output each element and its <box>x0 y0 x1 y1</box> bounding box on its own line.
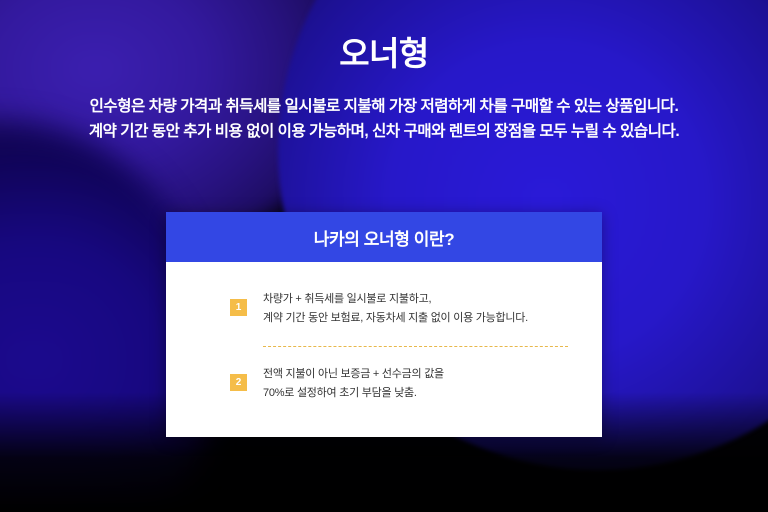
list-item-line-2: 70%로 설정하여 초기 부담을 낮춤. <box>263 384 568 403</box>
list-item-line-1: 차량가 + 취득세를 일시불로 지불하고, <box>263 290 568 309</box>
page-title: 오너형 <box>0 36 768 72</box>
list-item-line-1: 전액 지불이 아닌 보증금 + 선수금의 값을 <box>263 365 568 384</box>
hero-description-line-1: 인수형은 차량 가격과 취득세를 일시불로 지불해 가장 저렴하게 차를 구매할… <box>0 94 768 119</box>
hero-description-line-2: 계약 기간 동안 추가 비용 없이 이용 가능하며, 신차 구매와 렌트의 장점… <box>0 119 768 144</box>
list-item-number-badge: 1 <box>230 299 247 316</box>
list-item: 1 차량가 + 취득세를 일시불로 지불하고, 계약 기간 동안 보험료, 자동… <box>230 290 568 328</box>
list-item-line-2: 계약 기간 동안 보험료, 자동차세 지출 없이 이용 가능합니다. <box>263 309 568 328</box>
list-item-text: 차량가 + 취득세를 일시불로 지불하고, 계약 기간 동안 보험료, 자동차세… <box>263 290 568 328</box>
info-card-header: 나카의 오너형 이란? <box>166 212 602 262</box>
info-card-title: 나카의 오너형 이란? <box>314 225 455 250</box>
promo-slide: 오너형 인수형은 차량 가격과 취득세를 일시불로 지불해 가장 저렴하게 차를… <box>0 0 768 512</box>
hero-section: 오너형 인수형은 차량 가격과 취득세를 일시불로 지불해 가장 저렴하게 차를… <box>0 36 768 145</box>
info-card-body: 1 차량가 + 취득세를 일시불로 지불하고, 계약 기간 동안 보험료, 자동… <box>166 262 602 437</box>
list-item-number-badge: 2 <box>230 374 247 391</box>
hero-description: 인수형은 차량 가격과 취득세를 일시불로 지불해 가장 저렴하게 차를 구매할… <box>0 94 768 144</box>
list-item-text: 전액 지불이 아닌 보증금 + 선수금의 값을 70%로 설정하여 초기 부담을… <box>263 365 568 403</box>
list-item: 2 전액 지불이 아닌 보증금 + 선수금의 값을 70%로 설정하여 초기 부… <box>230 365 568 403</box>
dashed-divider <box>263 346 568 347</box>
info-card: 나카의 오너형 이란? 1 차량가 + 취득세를 일시불로 지불하고, 계약 기… <box>166 212 602 437</box>
